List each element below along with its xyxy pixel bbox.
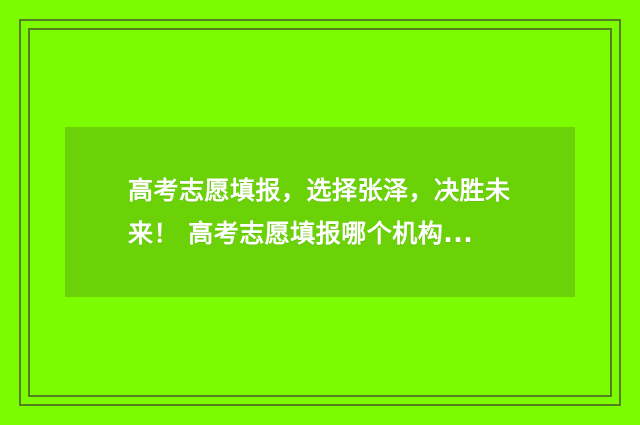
promo-banner: 高考志愿填报，选择张泽，决胜未来！ 高考志愿填报哪个机构... bbox=[0, 0, 640, 425]
headline-text: 高考志愿填报，选择张泽，决胜未来！ 高考志愿填报哪个机构... bbox=[128, 169, 557, 255]
headline-panel: 高考志愿填报，选择张泽，决胜未来！ 高考志愿填报哪个机构... bbox=[65, 127, 575, 297]
